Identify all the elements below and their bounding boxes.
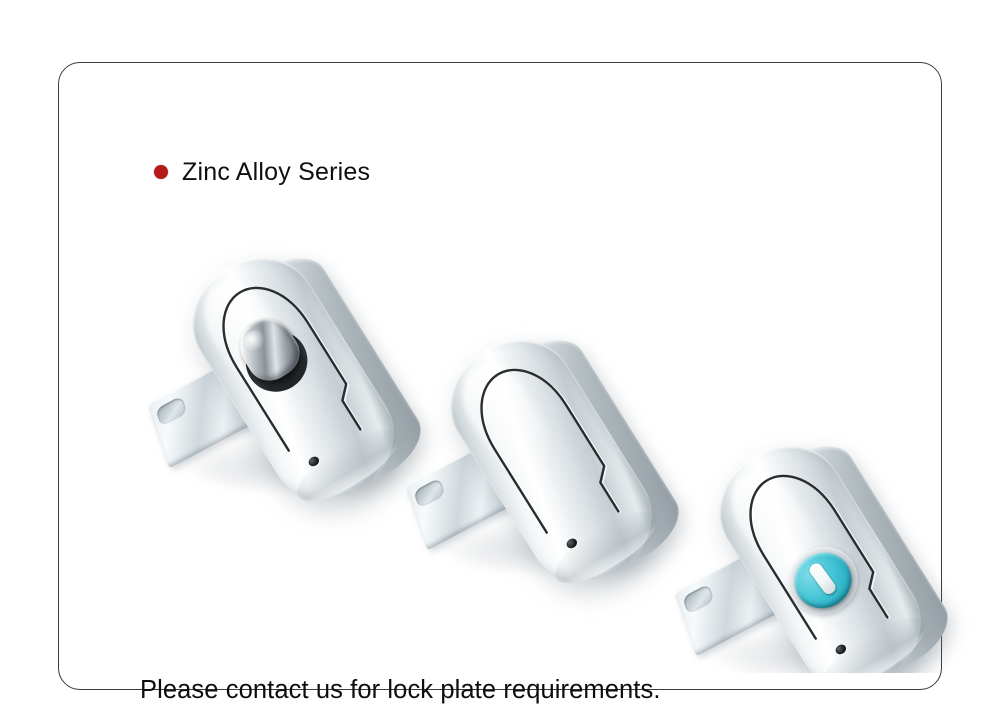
product-card: Zinc Alloy Series bbox=[58, 62, 942, 690]
red-dot-icon bbox=[154, 165, 168, 179]
series-heading: Zinc Alloy Series bbox=[154, 155, 370, 189]
product-photo-stage bbox=[117, 193, 1000, 673]
series-title: Zinc Alloy Series bbox=[182, 158, 370, 187]
product-image-lock-3 bbox=[664, 391, 994, 673]
